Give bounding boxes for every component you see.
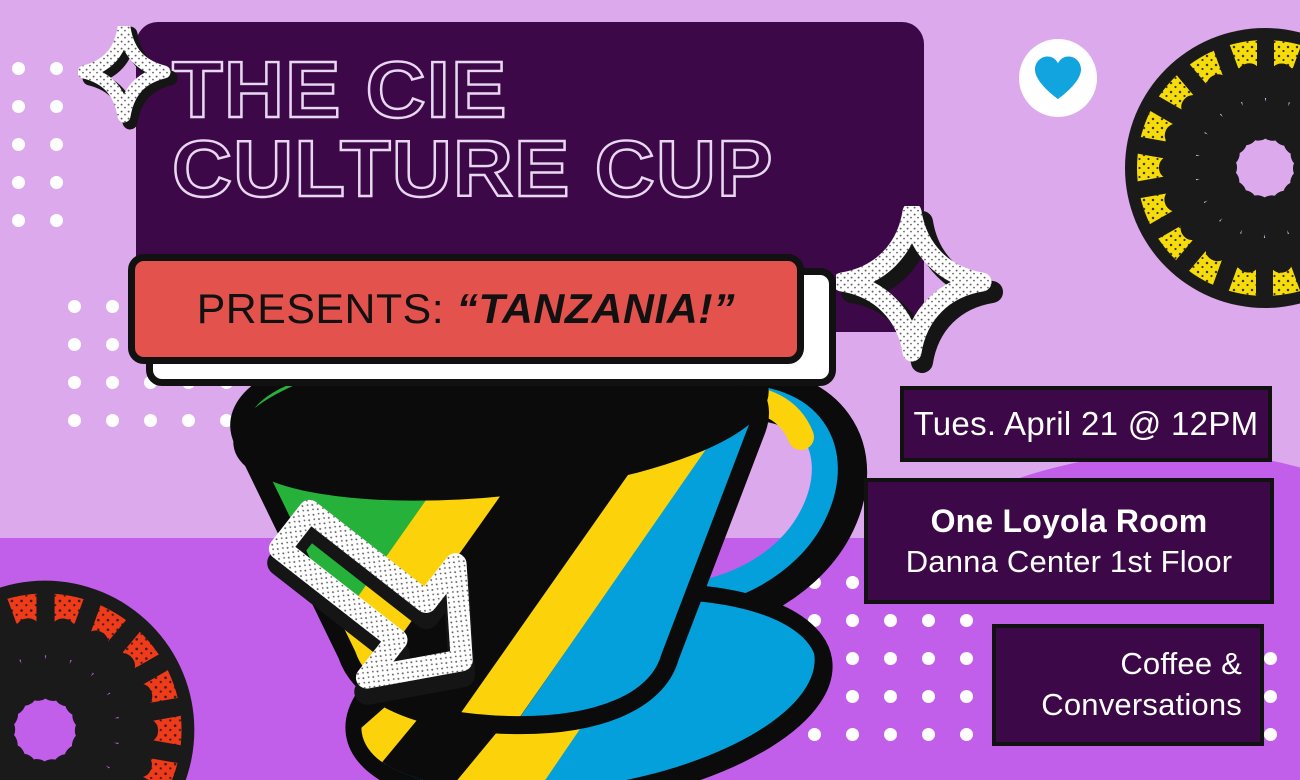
info-coffee-line1: Coffee & xyxy=(1120,644,1242,685)
arrow-outline-icon xyxy=(232,498,482,730)
info-coffee-line2: Conversations xyxy=(1041,685,1242,726)
presents-banner: PRESENTS: “TANZANIA!” xyxy=(128,254,804,364)
info-date-line1: Tues. April 21 @ 12PM xyxy=(914,405,1259,443)
heart-badge xyxy=(1019,39,1097,117)
info-place-line2: Danna Center 1st Floor xyxy=(906,544,1233,580)
heart-icon xyxy=(1033,55,1083,101)
info-box-date: Tues. April 21 @ 12PM xyxy=(900,386,1272,462)
presents-prefix: PRESENTS: xyxy=(197,285,457,332)
four-point-star-icon-small xyxy=(78,26,182,144)
gear-ring-icon-yellow xyxy=(1115,18,1300,318)
info-place-line1: One Loyola Room xyxy=(931,503,1208,540)
info-box-place: One Loyola Room Danna Center 1st Floor xyxy=(864,478,1274,604)
poster-canvas: THE CIE CULTURE CUP xyxy=(0,0,1300,780)
presents-emphasis: “TANZANIA!” xyxy=(457,285,735,332)
dot-grid-top-left xyxy=(12,62,88,252)
page-title: THE CIE CULTURE CUP xyxy=(172,50,942,208)
presents-banner-text: PRESENTS: “TANZANIA!” xyxy=(197,285,735,333)
info-box-coffee: Coffee & Conversations xyxy=(992,624,1264,746)
